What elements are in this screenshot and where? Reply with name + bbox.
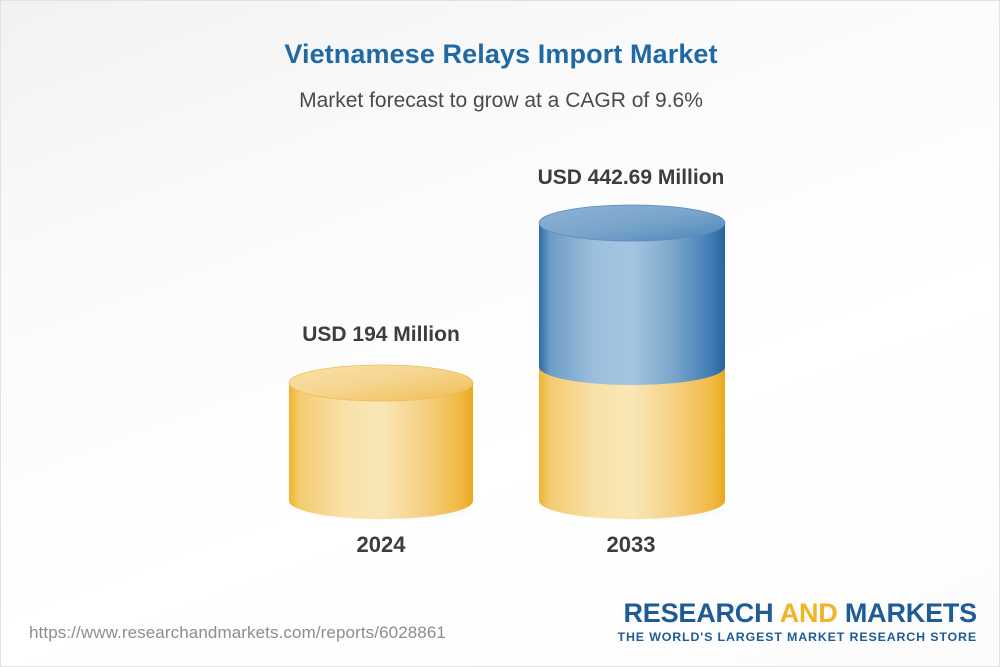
logo-word-markets: MARKETS — [845, 598, 977, 628]
page-subtitle: Market forecast to grow at a CAGR of 9.6… — [1, 89, 1000, 113]
logo-word-research: RESEARCH — [623, 598, 779, 628]
page-title: Vietnamese Relays Import Market — [1, 39, 1000, 70]
data-label-2033: USD 442.69 Million — [531, 166, 731, 190]
chart-poster: Vietnamese Relays Import Market Market f… — [0, 0, 1000, 667]
data-label-2024: USD 194 Million — [281, 323, 481, 347]
logo-wordmark: RESEARCH AND MARKETS — [618, 599, 977, 627]
bar-cylinder-2024 — [285, 361, 481, 523]
category-label-2033: 2033 — [531, 532, 731, 558]
source-url[interactable]: https://www.researchandmarkets.com/repor… — [29, 623, 446, 643]
logo-word-and: AND — [780, 598, 845, 628]
bar-cylinder-2033 — [534, 201, 732, 523]
logo-tagline: THE WORLD'S LARGEST MARKET RESEARCH STOR… — [618, 630, 977, 644]
category-label-2024: 2024 — [281, 532, 481, 558]
research-and-markets-logo[interactable]: RESEARCH AND MARKETS THE WORLD'S LARGEST… — [618, 599, 977, 644]
